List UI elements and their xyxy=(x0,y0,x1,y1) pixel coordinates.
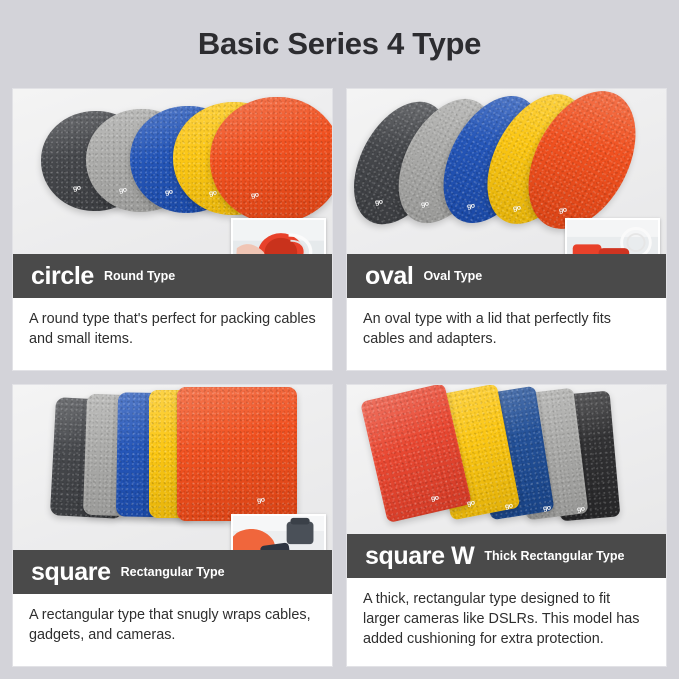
pouch-group-square-w: go go go go go xyxy=(347,385,666,534)
inset-illustration-square xyxy=(233,516,324,550)
pouch-logo-squarew-gray: go xyxy=(543,505,551,513)
pouch-logo-oval-orange: go xyxy=(559,207,567,215)
label-bar-circle: circle Round Type xyxy=(13,254,332,298)
card-title-circle: circle xyxy=(31,264,94,289)
card-title-oval: oval xyxy=(365,264,413,289)
product-photo-circle: go go go go go xyxy=(13,89,332,254)
card-description-circle: A round type that's perfect for packing … xyxy=(13,298,332,370)
product-photo-square: go xyxy=(13,385,332,550)
product-photo-square-w: go go go go go xyxy=(347,385,666,534)
pouch-logo-oval-yellow: go xyxy=(513,205,521,213)
pouch-logo-squarew-yellow: go xyxy=(467,500,475,508)
pouch-logo-yellow: go xyxy=(209,190,217,198)
card-title-square-w: square W xyxy=(365,544,474,569)
card-subtitle-square-w: Thick Rectangular Type xyxy=(484,549,624,563)
pouch-logo-oval-charcoal: go xyxy=(375,199,383,207)
card-description-oval: An oval type with a lid that perfectly f… xyxy=(347,298,666,370)
inset-illustration-oval xyxy=(567,220,658,254)
pouch-logo-charcoal: go xyxy=(73,185,81,193)
product-card-oval[interactable]: go go go go go xyxy=(346,88,667,371)
label-bar-square-w: square W Thick Rectangular Type xyxy=(347,534,666,578)
product-card-square[interactable]: go square xyxy=(12,384,333,667)
pouch-logo-orange: go xyxy=(251,192,259,200)
label-bar-oval: oval Oval Type xyxy=(347,254,666,298)
inset-photo-square xyxy=(231,514,326,550)
card-grid: go go go go go xyxy=(0,88,679,679)
product-photo-oval: go go go go go xyxy=(347,89,666,254)
pouch-square-orange xyxy=(177,387,297,521)
title-bar: Basic Series 4 Type xyxy=(0,0,679,88)
pouch-logo-squarew-black: go xyxy=(577,506,585,514)
inset-photo-circle xyxy=(231,218,326,254)
pouch-logo-squarew-navy: go xyxy=(505,503,513,511)
pouch-circle-orange xyxy=(210,97,332,223)
card-title-square: square xyxy=(31,560,111,585)
inset-photo-oval xyxy=(565,218,660,254)
card-description-square-w: A thick, rectangular type designed to fi… xyxy=(347,578,666,666)
pouch-logo-gray: go xyxy=(119,187,127,195)
pouch-logo-oval-blue: go xyxy=(467,203,475,211)
card-subtitle-oval: Oval Type xyxy=(423,269,482,283)
infographic-page: Basic Series 4 Type go go go go go xyxy=(0,0,679,679)
pouch-logo-squarew-red: go xyxy=(431,495,439,503)
pouch-logo-square-orange: go xyxy=(257,497,265,505)
product-card-square-w[interactable]: go go go go go square W Thick Rectangula… xyxy=(346,384,667,667)
pouch-logo-blue: go xyxy=(165,189,173,197)
product-card-circle[interactable]: go go go go go xyxy=(12,88,333,371)
pouch-logo-oval-gray: go xyxy=(421,201,429,209)
label-bar-square: square Rectangular Type xyxy=(13,550,332,594)
page-title: Basic Series 4 Type xyxy=(198,26,481,62)
card-subtitle-circle: Round Type xyxy=(104,269,175,283)
card-description-square: A rectangular type that snugly wraps cab… xyxy=(13,594,332,666)
inset-illustration-circle xyxy=(233,220,324,254)
card-subtitle-square: Rectangular Type xyxy=(121,565,225,579)
